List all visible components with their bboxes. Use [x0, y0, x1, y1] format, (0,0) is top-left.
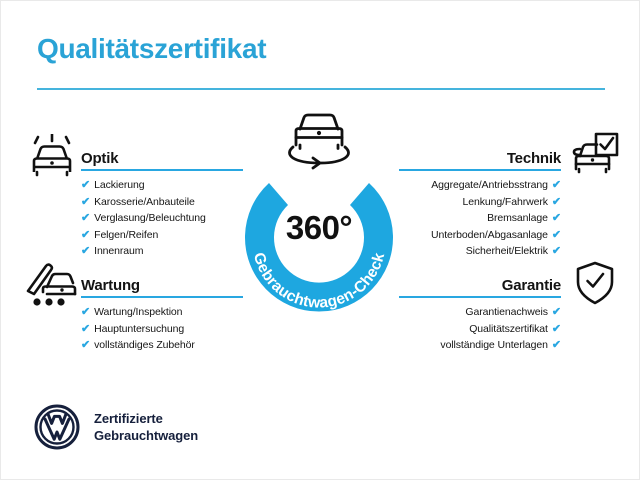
- section-optik: Optik ✔Lackierung ✔Karosserie/Anbauteile…: [81, 141, 243, 167]
- list-item: ✔Lackierung: [81, 177, 243, 194]
- list-item-label: Garantienachweis: [465, 306, 547, 318]
- check-icon: ✔: [552, 306, 561, 318]
- check-icon: ✔: [81, 212, 90, 224]
- badge-center-label: 360°: [229, 209, 409, 247]
- list-item: ✔Felgen/Reifen: [81, 227, 243, 244]
- check-icon: ✔: [81, 306, 90, 318]
- list-item: Sicherheit/Elektrik✔: [399, 243, 561, 260]
- list-item-label: Lenkung/Fahrwerk: [463, 196, 548, 208]
- check-icon: ✔: [81, 245, 90, 257]
- check-icon: ✔: [552, 339, 561, 351]
- footer-text: Zertifizierte Gebrauchtwagen: [94, 410, 198, 444]
- car-checkbox-icon: [567, 132, 619, 178]
- check-icon: ✔: [552, 179, 561, 191]
- section-technik: Technik Aggregate/Antriebsstrang✔ Lenkun…: [399, 141, 561, 167]
- list-item: ✔Hauptuntersuchung: [81, 321, 243, 338]
- list-item-label: vollständige Unterlagen: [440, 339, 547, 351]
- list-item-label: Felgen/Reifen: [94, 229, 158, 241]
- list-item-label: Innenraum: [94, 245, 143, 257]
- section-optik-header: Optik: [81, 141, 243, 167]
- check-icon: ✔: [552, 245, 561, 257]
- list-item: ✔Verglasung/Beleuchtung: [81, 210, 243, 227]
- section-garantie-list: Garantienachweis✔ Qualitätszertifikat✔ v…: [399, 304, 561, 354]
- list-item: Aggregate/Antriebsstrang✔: [399, 177, 561, 194]
- car-rotate-360-icon: [279, 109, 359, 171]
- list-item: Unterboden/Abgasanlage✔: [399, 227, 561, 244]
- list-item: Garantienachweis✔: [399, 304, 561, 321]
- volkswagen-logo: [34, 404, 80, 450]
- section-technik-divider: [399, 169, 561, 171]
- check-icon: ✔: [552, 196, 561, 208]
- footer-line-2: Gebrauchtwagen: [94, 427, 198, 444]
- list-item: ✔Innenraum: [81, 243, 243, 260]
- check-icon: ✔: [81, 179, 90, 191]
- section-wartung-divider: [81, 296, 243, 298]
- quality-certificate-page: Qualitätszertifikat Optik: [0, 0, 640, 480]
- list-item: Qualitätszertifikat✔: [399, 321, 561, 338]
- section-garantie-title: Garantie: [502, 277, 561, 294]
- check-icon: ✔: [81, 196, 90, 208]
- footer-brand: Zertifizierte Gebrauchtwagen: [34, 404, 198, 450]
- page-title: Qualitätszertifikat: [37, 33, 266, 65]
- list-item: Bremsanlage✔: [399, 210, 561, 227]
- list-item-label: Wartung/Inspektion: [94, 306, 182, 318]
- section-technik-title: Technik: [507, 150, 561, 167]
- shield-check-icon: [574, 260, 616, 306]
- section-optik-list: ✔Lackierung ✔Karosserie/Anbauteile ✔Verg…: [81, 177, 243, 260]
- car-service-tool-icon: [23, 261, 79, 307]
- title-divider: [37, 88, 605, 90]
- check-icon: ✔: [81, 339, 90, 351]
- footer-line-1: Zertifizierte: [94, 410, 198, 427]
- section-wartung: Wartung ✔Wartung/Inspektion ✔Hauptunters…: [81, 268, 243, 294]
- list-item-label: Sicherheit/Elektrik: [466, 245, 548, 257]
- section-wartung-header: Wartung: [81, 268, 243, 294]
- section-technik-list: Aggregate/Antriebsstrang✔ Lenkung/Fahrwe…: [399, 177, 561, 260]
- car-shine-icon: [27, 134, 77, 178]
- section-garantie-divider: [399, 296, 561, 298]
- section-technik-header: Technik: [399, 141, 561, 167]
- 360-check-badge: Gebrauchtwagen-Check 360°: [229, 151, 409, 331]
- list-item-label: Hauptuntersuchung: [94, 323, 184, 335]
- section-garantie-header: Garantie: [399, 268, 561, 294]
- list-item-label: Bremsanlage: [487, 212, 548, 224]
- section-optik-divider: [81, 169, 243, 171]
- check-icon: ✔: [81, 323, 90, 335]
- section-wartung-title: Wartung: [81, 277, 140, 294]
- list-item: vollständige Unterlagen✔: [399, 337, 561, 354]
- list-item-label: Unterboden/Abgasanlage: [431, 229, 548, 241]
- list-item: ✔Wartung/Inspektion: [81, 304, 243, 321]
- section-wartung-list: ✔Wartung/Inspektion ✔Hauptuntersuchung ✔…: [81, 304, 243, 354]
- section-optik-title: Optik: [81, 150, 118, 167]
- list-item-label: Karosserie/Anbauteile: [94, 196, 195, 208]
- check-icon: ✔: [81, 229, 90, 241]
- check-icon: ✔: [552, 212, 561, 224]
- check-icon: ✔: [552, 323, 561, 335]
- list-item-label: Verglasung/Beleuchtung: [94, 212, 206, 224]
- list-item-label: Lackierung: [94, 179, 144, 191]
- list-item: ✔vollständiges Zubehör: [81, 337, 243, 354]
- list-item: ✔Karosserie/Anbauteile: [81, 194, 243, 211]
- list-item-label: Aggregate/Antriebsstrang: [431, 179, 548, 191]
- list-item-label: vollständiges Zubehör: [94, 339, 195, 351]
- check-icon: ✔: [552, 229, 561, 241]
- section-garantie: Garantie Garantienachweis✔ Qualitätszert…: [399, 268, 561, 294]
- list-item: Lenkung/Fahrwerk✔: [399, 194, 561, 211]
- list-item-label: Qualitätszertifikat: [469, 323, 548, 335]
